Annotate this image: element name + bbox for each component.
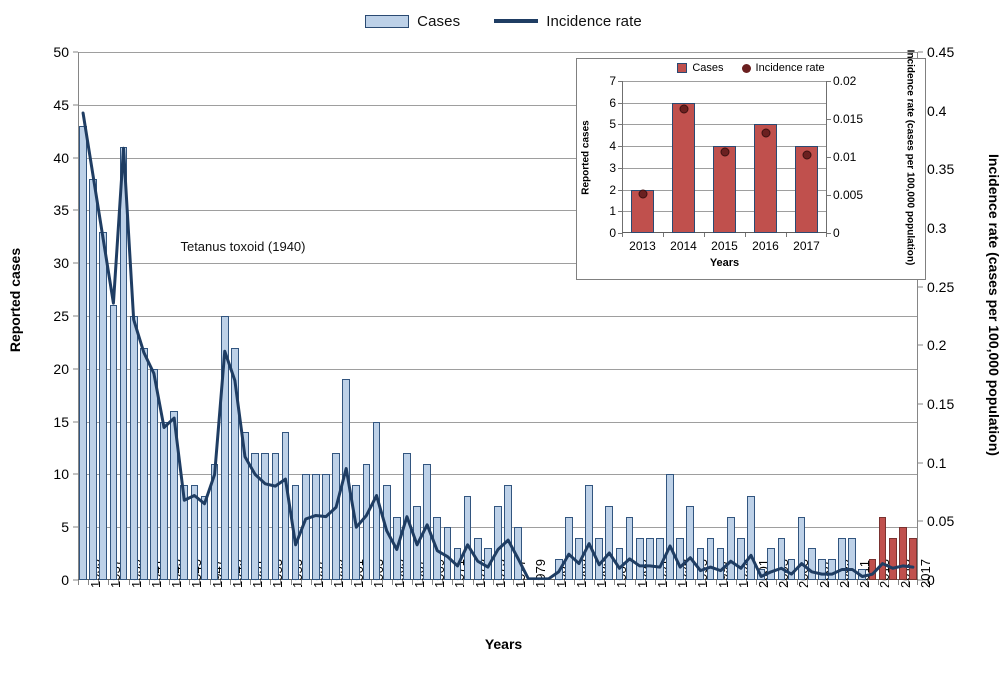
inset-legend-dot-swatch-icon bbox=[742, 64, 751, 73]
inset-x-tick bbox=[622, 233, 623, 237]
x-axis-tick bbox=[574, 580, 575, 585]
inset-legend: Cases Incidence rate bbox=[577, 62, 925, 74]
x-axis-tick bbox=[716, 580, 717, 585]
x-axis-tick bbox=[746, 580, 747, 585]
inset-point-2015[interactable] bbox=[720, 148, 729, 157]
x-axis-tick bbox=[625, 580, 626, 585]
x-axis-tick bbox=[705, 580, 706, 585]
x-axis-tick bbox=[412, 580, 413, 585]
x-axis-tick bbox=[159, 580, 160, 585]
inset-bar-2017[interactable] bbox=[795, 146, 818, 233]
y2-axis-tick-label: 0.05 bbox=[918, 513, 954, 529]
left-axis-title-text: Reported cases bbox=[7, 248, 23, 352]
legend-bar-swatch-icon bbox=[365, 15, 409, 28]
inset-point-2017[interactable] bbox=[802, 150, 811, 159]
x-axis-tick bbox=[797, 580, 798, 585]
x-axis-tick bbox=[463, 580, 464, 585]
x-axis-tick bbox=[280, 580, 281, 585]
right-axis-title: Incidence rate (cases per 100,000 popula… bbox=[983, 0, 1005, 610]
inset-plot-area: 0123456700.0050.010.0150.022013201420152… bbox=[622, 81, 827, 233]
x-axis-tick bbox=[513, 580, 514, 585]
x-axis-tick bbox=[898, 580, 899, 585]
x-axis-tick bbox=[98, 580, 99, 585]
legend-line-swatch-icon bbox=[494, 19, 538, 23]
y2-axis-tick-label: 0.25 bbox=[918, 279, 954, 295]
inset-legend-bar-swatch-icon bbox=[677, 63, 687, 73]
x-axis-tick bbox=[331, 580, 332, 585]
x-axis-tick bbox=[199, 580, 200, 585]
x-axis-tick bbox=[695, 580, 696, 585]
inset-x-tick bbox=[704, 233, 705, 237]
left-axis-title: Reported cases bbox=[4, 0, 26, 600]
legend-label-cases: Cases bbox=[417, 13, 460, 30]
x-axis-tick bbox=[301, 580, 302, 585]
x-axis-tick bbox=[533, 580, 534, 585]
x-axis-tick bbox=[118, 580, 119, 585]
annotation-tetanus-toxoid: Tetanus toxoid (1940) bbox=[180, 239, 305, 254]
x-axis-tick bbox=[452, 580, 453, 585]
x-axis-tick bbox=[776, 580, 777, 585]
x-axis-tick bbox=[554, 580, 555, 585]
inset-left-axis-title-text: Reported cases bbox=[581, 120, 592, 194]
x-axis-tick bbox=[867, 580, 868, 585]
inset-point-2016[interactable] bbox=[761, 128, 770, 137]
x-axis-tick bbox=[645, 580, 646, 585]
x-axis-tick bbox=[493, 580, 494, 585]
x-axis-tick bbox=[351, 580, 352, 585]
x-axis-tick bbox=[827, 580, 828, 585]
inset-gridline bbox=[622, 124, 827, 125]
inset-y2-tick bbox=[827, 233, 831, 234]
x-axis-tick bbox=[78, 580, 79, 585]
x-axis-tick bbox=[523, 580, 524, 585]
inset-x-tick bbox=[663, 233, 664, 237]
y2-axis-tick bbox=[918, 52, 923, 53]
x-axis-tick bbox=[878, 580, 879, 585]
x-axis-tick bbox=[685, 580, 686, 585]
inset-y2-tick bbox=[827, 157, 831, 158]
inset-gridline bbox=[622, 103, 827, 104]
x-axis-tick bbox=[189, 580, 190, 585]
x-axis-tick bbox=[240, 580, 241, 585]
main-legend: Cases Incidence rate bbox=[0, 6, 1007, 36]
inset-right-axis-title-text: Incidence rate (cases per 100,000 popula… bbox=[905, 49, 916, 265]
inset-left-axis-title: Reported cases bbox=[579, 81, 593, 233]
x-axis-tick bbox=[382, 580, 383, 585]
x-axis-tick bbox=[888, 580, 889, 585]
x-axis-tick bbox=[250, 580, 251, 585]
inset-x-tick-label-2017: 2017 bbox=[793, 239, 820, 253]
inset-x-tick bbox=[745, 233, 746, 237]
x-axis-tick bbox=[503, 580, 504, 585]
x-axis-tick bbox=[442, 580, 443, 585]
inset-y2-tick-label: 0.015 bbox=[827, 112, 863, 126]
x-axis-tick bbox=[665, 580, 666, 585]
x-axis-tick bbox=[736, 580, 737, 585]
x-axis-tick bbox=[291, 580, 292, 585]
chart-root: Cases Incidence rate Reported cases Inci… bbox=[0, 0, 1007, 680]
inset-y2-tick-label: 0.005 bbox=[827, 188, 863, 202]
x-axis-tick bbox=[766, 580, 767, 585]
x-axis-tick bbox=[817, 580, 818, 585]
legend-label-incidence-rate: Incidence rate bbox=[546, 13, 642, 30]
y2-axis-tick bbox=[918, 404, 923, 405]
inset-x-tick bbox=[826, 233, 827, 237]
right-axis-title-text: Incidence rate (cases per 100,000 popula… bbox=[986, 154, 1002, 456]
inset-legend-label-cases: Cases bbox=[692, 62, 723, 74]
y2-axis-tick bbox=[918, 521, 923, 522]
inset-bar-2014[interactable] bbox=[672, 103, 695, 233]
x-axis-tick bbox=[311, 580, 312, 585]
x-axis-tick bbox=[564, 580, 565, 585]
x-axis-tick bbox=[726, 580, 727, 585]
x-axis-tick bbox=[392, 580, 393, 585]
x-axis-tick bbox=[635, 580, 636, 585]
x-axis-tick bbox=[361, 580, 362, 585]
inset-bar-2016[interactable] bbox=[754, 124, 777, 233]
x-axis-tick bbox=[321, 580, 322, 585]
x-axis-tick bbox=[210, 580, 211, 585]
inset-y2-tick-label: 0.02 bbox=[827, 74, 856, 88]
inset-point-2014[interactable] bbox=[679, 105, 688, 114]
inset-chart: Cases Incidence rate Reported cases Inci… bbox=[576, 58, 926, 280]
y2-axis-tick bbox=[918, 286, 923, 287]
y2-axis-tick bbox=[918, 345, 923, 346]
x-axis-tick bbox=[483, 580, 484, 585]
x-axis-tick bbox=[857, 580, 858, 585]
inset-point-2013[interactable] bbox=[638, 190, 647, 199]
inset-right-axis-title: Incidence rate (cases per 100,000 popula… bbox=[897, 77, 923, 237]
inset-y2-tick bbox=[827, 195, 831, 196]
x-axis-tick-label-2017: 2017 bbox=[918, 559, 933, 588]
x-axis-tick bbox=[756, 580, 757, 585]
x-axis-tick bbox=[786, 580, 787, 585]
x-axis-tick bbox=[149, 580, 150, 585]
x-axis-tick bbox=[917, 580, 918, 585]
x-axis-tick bbox=[594, 580, 595, 585]
x-axis-tick bbox=[473, 580, 474, 585]
y2-axis-tick bbox=[918, 462, 923, 463]
x-axis-tick bbox=[604, 580, 605, 585]
x-axis-tick bbox=[837, 580, 838, 585]
x-axis-tick bbox=[220, 580, 221, 585]
inset-y-axis-line bbox=[622, 81, 623, 233]
x-axis-tick bbox=[908, 580, 909, 585]
x-axis-tick bbox=[655, 580, 656, 585]
x-axis-tick bbox=[139, 580, 140, 585]
inset-legend-item-incidence: Incidence rate bbox=[742, 62, 825, 74]
x-axis-tick bbox=[675, 580, 676, 585]
x-axis-tick bbox=[169, 580, 170, 585]
legend-item-incidence-rate: Incidence rate bbox=[494, 13, 642, 30]
x-axis-tick bbox=[108, 580, 109, 585]
inset-x-tick bbox=[786, 233, 787, 237]
x-axis-tick bbox=[341, 580, 342, 585]
x-axis-tick bbox=[371, 580, 372, 585]
x-axis-tick bbox=[614, 580, 615, 585]
x-axis-tick bbox=[807, 580, 808, 585]
x-axis-tick bbox=[88, 580, 89, 585]
x-axis-tick bbox=[544, 580, 545, 585]
inset-y2-tick bbox=[827, 81, 831, 82]
x-axis-tick bbox=[432, 580, 433, 585]
inset-legend-label-incidence: Incidence rate bbox=[756, 62, 825, 74]
bottom-axis-title: Years bbox=[0, 636, 1007, 652]
x-axis-tick bbox=[129, 580, 130, 585]
x-axis-tick bbox=[584, 580, 585, 585]
inset-x-tick-label-2015: 2015 bbox=[711, 239, 738, 253]
y2-axis-tick-label: 0.15 bbox=[918, 396, 954, 412]
inset-bottom-axis-title: Years bbox=[622, 257, 827, 269]
x-axis-tick bbox=[230, 580, 231, 585]
x-axis-tick bbox=[847, 580, 848, 585]
inset-x-tick-label-2016: 2016 bbox=[752, 239, 779, 253]
inset-y2-tick-label: 0.01 bbox=[827, 150, 856, 164]
inset-legend-item-cases: Cases bbox=[677, 62, 723, 74]
x-axis-tick bbox=[179, 580, 180, 585]
inset-gridline bbox=[622, 81, 827, 82]
legend-item-cases: Cases bbox=[365, 13, 460, 30]
x-axis-tick bbox=[402, 580, 403, 585]
inset-x-tick-label-2014: 2014 bbox=[670, 239, 697, 253]
x-axis-tick bbox=[260, 580, 261, 585]
x-axis-tick bbox=[422, 580, 423, 585]
inset-bar-2015[interactable] bbox=[713, 146, 736, 233]
inset-y2-tick bbox=[827, 119, 831, 120]
x-axis-tick bbox=[270, 580, 271, 585]
inset-y2-axis-line bbox=[826, 81, 827, 233]
inset-x-tick-label-2013: 2013 bbox=[629, 239, 656, 253]
